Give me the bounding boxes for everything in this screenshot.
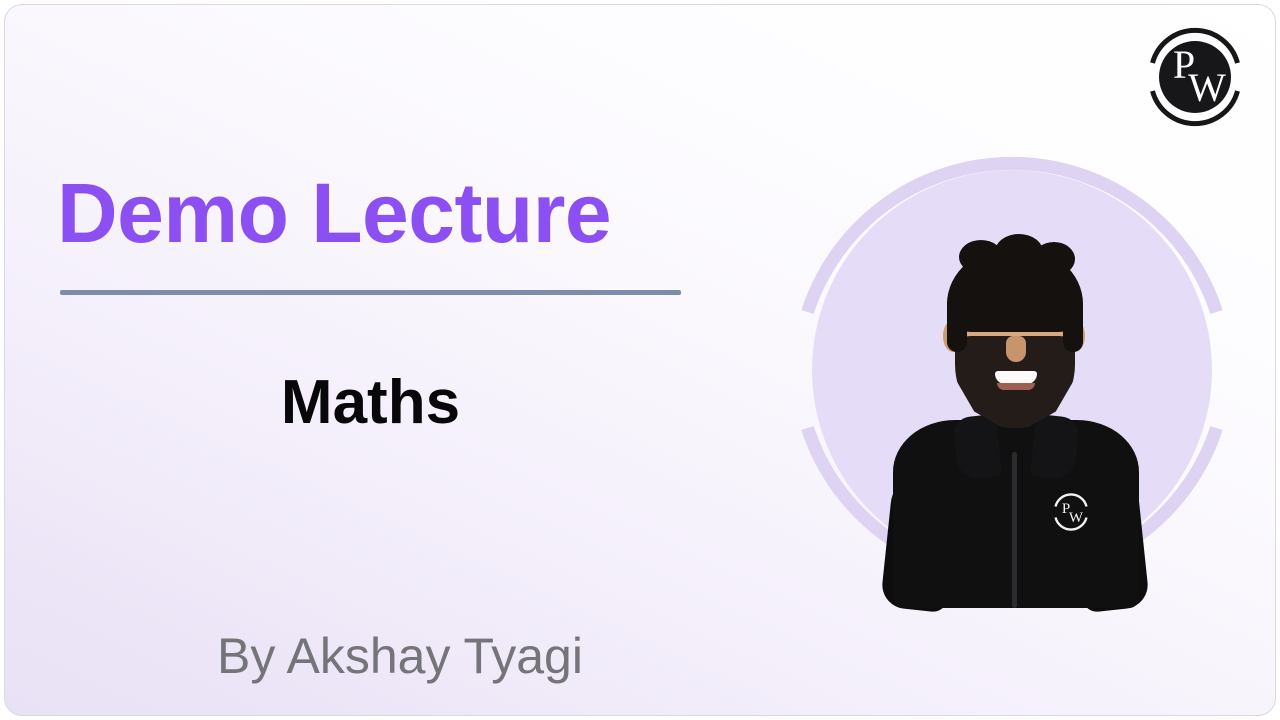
subject-title: Maths (60, 370, 681, 435)
jacket-pw-badge-icon: P W (1051, 492, 1091, 532)
portrait-hair-tuft (1033, 242, 1075, 276)
instructor-portrait: P W (847, 220, 1177, 605)
slide-card: P W Demo Lecture Maths By Akshay Tyagi (4, 4, 1276, 716)
pw-logo-icon: P W (1143, 25, 1247, 129)
portrait-nose (1006, 336, 1026, 362)
portrait-zipper (1012, 452, 1017, 608)
svg-text:W: W (1069, 510, 1084, 526)
svg-text:W: W (1188, 65, 1226, 110)
presenter-byline: By Akshay Tyagi (60, 630, 740, 683)
page-title: Demo Lecture (57, 171, 611, 255)
title-divider (60, 290, 681, 295)
portrait-lower-lip (997, 383, 1035, 390)
portrait-medallion: P W (787, 145, 1237, 605)
